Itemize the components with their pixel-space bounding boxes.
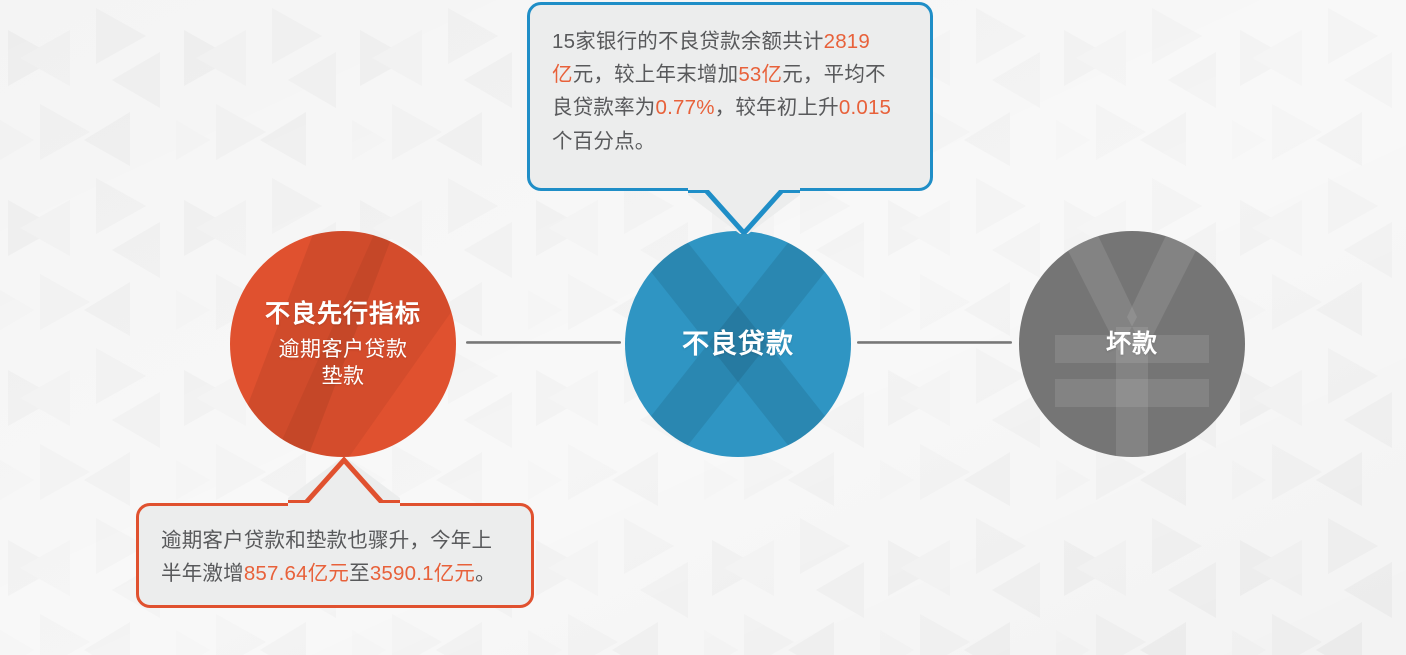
- node-labels-indicator: 不良先行指标 逾期客户贷款 垫款: [265, 298, 421, 391]
- seg: 至: [349, 562, 370, 585]
- connector-line-npl-to-badloan: [857, 341, 1012, 344]
- callout-npl-line-2: 亿元，较上年末增加53亿元，平均不: [552, 58, 908, 91]
- callout-npl-text: 15家银行的不良贷款余额共计2819 亿元，较上年末增加53亿元，平均不 良贷款…: [552, 25, 908, 158]
- seg: 15家银行的不良贷款余额共计: [552, 30, 824, 53]
- seg-highlight: 3590.1亿元: [370, 562, 475, 585]
- callout-npl-statistics: 15家银行的不良贷款余额共计2819 亿元，较上年末增加53亿元，平均不 良贷款…: [527, 2, 933, 191]
- seg-highlight: 0.77%: [656, 96, 715, 119]
- callout-overdue-text: 逾期客户贷款和垫款也骤升，今年上 半年激增857.64亿元至3590.1亿元。: [161, 524, 509, 590]
- seg-highlight: 2819: [824, 30, 870, 53]
- node-subtitle-line-2: 垫款: [265, 364, 421, 391]
- callout-npl-line-4: 个百分点。: [552, 125, 908, 158]
- seg-highlight: 53亿: [738, 63, 782, 86]
- seg: 个百分点。: [552, 130, 656, 153]
- node-circle-badloan[interactable]: 坏款: [1019, 231, 1245, 457]
- callout-npl-line-1: 15家银行的不良贷款余额共计2819: [552, 25, 908, 58]
- callout-overdue-line-1: 逾期客户贷款和垫款也骤升，今年上: [161, 524, 509, 557]
- seg: 元，平均不: [782, 63, 886, 86]
- seg-highlight: 857.64亿元: [244, 562, 349, 585]
- seg: 良贷款率为: [552, 96, 656, 119]
- callout-overdue-line-2: 半年激增857.64亿元至3590.1亿元。: [161, 557, 509, 590]
- seg-highlight: 亿: [552, 63, 573, 86]
- seg: 。: [475, 562, 496, 585]
- seg-highlight: 0.015: [839, 96, 891, 119]
- callout-npl-line-3: 良贷款率为0.77%，较年初上升0.015: [552, 91, 908, 124]
- node-title-badloan: 坏款: [1106, 328, 1158, 360]
- node-circle-indicator[interactable]: 不良先行指标 逾期客户贷款 垫款: [230, 231, 456, 457]
- infographic-canvas: 不良先行指标 逾期客户贷款 垫款 不良贷款 坏款: [0, 0, 1406, 655]
- node-title-npl: 不良贷款: [682, 327, 794, 362]
- connector-line-indicator-to-npl: [466, 341, 621, 344]
- node-labels-npl: 不良贷款: [682, 327, 794, 362]
- node-title-indicator: 不良先行指标: [265, 298, 421, 330]
- node-labels-badloan: 坏款: [1106, 328, 1158, 360]
- node-circle-npl[interactable]: 不良贷款: [625, 231, 851, 457]
- node-subtitle-line-1: 逾期客户贷款: [265, 337, 421, 364]
- seg: ，较年初上升: [715, 96, 839, 119]
- seg: 逾期客户贷款和垫款也骤升，今年上: [161, 529, 492, 552]
- node-subtitle-indicator: 逾期客户贷款 垫款: [265, 337, 421, 391]
- seg: 元，较上年末增加: [573, 63, 739, 86]
- callout-overdue-statistics: 逾期客户贷款和垫款也骤升，今年上 半年激增857.64亿元至3590.1亿元。: [136, 503, 534, 608]
- seg: 半年激增: [161, 562, 244, 585]
